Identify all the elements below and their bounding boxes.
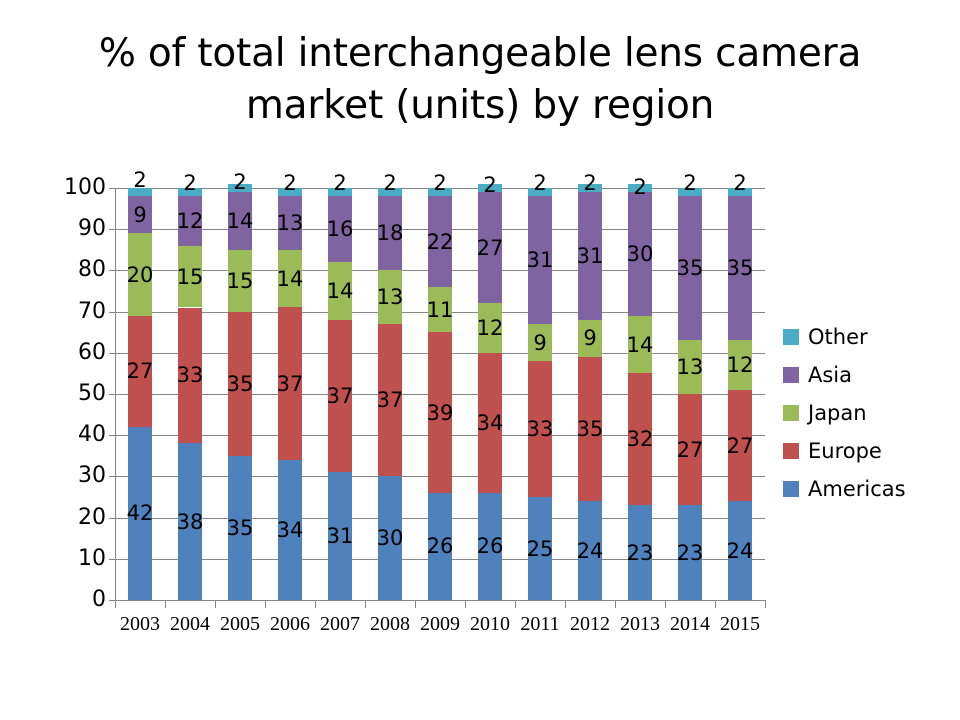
bar-group[interactable]: 303713182 bbox=[378, 188, 402, 600]
legend-swatch-icon bbox=[783, 329, 799, 345]
legend-swatch-icon bbox=[783, 367, 799, 383]
legend-label: Europe bbox=[808, 441, 882, 462]
bar-segment-other[interactable] bbox=[728, 188, 752, 196]
bar-group[interactable]: 25339312 bbox=[528, 188, 552, 600]
chart-title: % of total interchangeable lens camera m… bbox=[40, 28, 920, 132]
legend-swatch-icon bbox=[783, 481, 799, 497]
y-axis-tick-label: 20 bbox=[48, 507, 106, 529]
bar-group[interactable]: 343714132 bbox=[278, 188, 302, 600]
bar-segment-asia[interactable] bbox=[528, 196, 552, 324]
bar-segment-europe[interactable] bbox=[478, 353, 502, 493]
bar-segment-asia[interactable] bbox=[228, 192, 252, 250]
x-axis-tick-mark bbox=[315, 601, 316, 608]
x-axis-tick-mark bbox=[165, 601, 166, 608]
bar-segment-other[interactable] bbox=[278, 188, 302, 196]
x-axis-tick-label: 2015 bbox=[710, 613, 770, 635]
bar-segment-europe[interactable] bbox=[578, 357, 602, 501]
bar-segment-other[interactable] bbox=[228, 184, 252, 192]
bar-segment-japan[interactable] bbox=[728, 340, 752, 389]
legend-label: Asia bbox=[808, 365, 852, 386]
y-axis-tick-mark bbox=[109, 229, 115, 230]
bar-segment-japan[interactable] bbox=[178, 246, 202, 308]
bar-segment-asia[interactable] bbox=[178, 196, 202, 245]
y-axis-tick-label: 70 bbox=[48, 301, 106, 323]
bar-segment-other[interactable] bbox=[578, 184, 602, 192]
legend-label: Japan bbox=[808, 403, 867, 424]
bar-segment-other[interactable] bbox=[678, 188, 702, 196]
legend-item-japan[interactable]: Japan bbox=[783, 394, 906, 432]
bar-segment-europe[interactable] bbox=[228, 312, 252, 456]
y-axis-tick-label: 60 bbox=[48, 342, 106, 364]
x-axis-tick-mark bbox=[215, 601, 216, 608]
chart-page: % of total interchangeable lens camera m… bbox=[0, 0, 960, 720]
bar-segment-americas[interactable] bbox=[428, 493, 452, 600]
legend-item-americas[interactable]: Americas bbox=[783, 470, 906, 508]
bar-segment-japan[interactable] bbox=[678, 340, 702, 394]
bar-segment-europe[interactable] bbox=[328, 320, 352, 472]
legend-swatch-icon bbox=[783, 405, 799, 421]
bar-segment-americas[interactable] bbox=[578, 501, 602, 600]
y-axis-tick-mark bbox=[109, 518, 115, 519]
bar-segment-europe[interactable] bbox=[428, 332, 452, 493]
bar-segment-japan[interactable] bbox=[228, 250, 252, 312]
bar-segment-americas[interactable] bbox=[478, 493, 502, 600]
bar-segment-europe[interactable] bbox=[128, 316, 152, 427]
x-axis-tick-mark bbox=[465, 601, 466, 608]
y-axis-tick-mark bbox=[109, 270, 115, 271]
bar-segment-asia[interactable] bbox=[378, 196, 402, 270]
y-axis-tick-label: 100 bbox=[48, 177, 106, 199]
y-axis-tick-label: 10 bbox=[48, 548, 106, 570]
x-axis-tick-mark bbox=[365, 601, 366, 608]
bar-segment-asia[interactable] bbox=[728, 196, 752, 340]
bar-segment-japan[interactable] bbox=[578, 320, 602, 357]
y-axis-tick-label: 50 bbox=[48, 383, 106, 405]
x-axis-tick-mark bbox=[515, 601, 516, 608]
y-axis-tick-mark bbox=[109, 435, 115, 436]
bar-segment-other[interactable] bbox=[128, 188, 152, 196]
bar-segment-other[interactable] bbox=[178, 188, 202, 196]
bar-segment-americas[interactable] bbox=[178, 443, 202, 600]
legend-label: Americas bbox=[808, 479, 906, 500]
bar-segment-americas[interactable] bbox=[678, 505, 702, 600]
bar-segment-asia[interactable] bbox=[628, 192, 652, 316]
bar-group[interactable]: 42272092 bbox=[128, 188, 152, 600]
bar-group[interactable]: 353515142 bbox=[228, 188, 252, 600]
bar-segment-asia[interactable] bbox=[578, 192, 602, 320]
y-axis-tick-mark bbox=[109, 188, 115, 189]
y-axis-tick-mark bbox=[109, 312, 115, 313]
bar-segment-japan[interactable] bbox=[128, 233, 152, 315]
bar-group[interactable]: 263412272 bbox=[478, 188, 502, 600]
bar-segment-japan[interactable] bbox=[478, 303, 502, 352]
bar-segment-other[interactable] bbox=[478, 184, 502, 192]
plot-area: 4227209238331512235351514234371413231371… bbox=[115, 188, 765, 600]
bar-segment-europe[interactable] bbox=[728, 390, 752, 501]
y-axis-tick-label: 90 bbox=[48, 218, 106, 240]
bar-segment-americas[interactable] bbox=[228, 456, 252, 600]
legend-label: Other bbox=[808, 327, 868, 348]
y-axis-tick-label: 0 bbox=[48, 589, 106, 611]
bar-segment-europe[interactable] bbox=[278, 307, 302, 459]
bar-group[interactable]: 232713352 bbox=[678, 188, 702, 600]
y-axis-tick-mark bbox=[109, 476, 115, 477]
bar-segment-asia[interactable] bbox=[678, 196, 702, 340]
bar-segment-japan[interactable] bbox=[628, 316, 652, 374]
bar-segment-japan[interactable] bbox=[428, 287, 452, 332]
bar-segment-other[interactable] bbox=[428, 188, 452, 196]
x-axis-tick-mark bbox=[565, 601, 566, 608]
legend-item-europe[interactable]: Europe bbox=[783, 432, 906, 470]
x-axis-tick-mark bbox=[415, 601, 416, 608]
bar-segment-other[interactable] bbox=[328, 188, 352, 196]
bar-segment-other[interactable] bbox=[628, 184, 652, 192]
bar-segment-asia[interactable] bbox=[328, 196, 352, 262]
bar-segment-americas[interactable] bbox=[378, 476, 402, 600]
bar-segment-japan[interactable] bbox=[378, 270, 402, 324]
bar-segment-americas[interactable] bbox=[528, 497, 552, 600]
bar-segment-europe[interactable] bbox=[678, 394, 702, 505]
x-axis-tick-mark bbox=[615, 601, 616, 608]
x-axis-line bbox=[115, 600, 766, 601]
bar-segment-europe[interactable] bbox=[178, 308, 202, 444]
x-axis-tick-mark bbox=[115, 601, 116, 608]
x-axis-tick-mark bbox=[715, 601, 716, 608]
bar-segment-other[interactable] bbox=[528, 188, 552, 196]
bar-segment-europe[interactable] bbox=[628, 373, 652, 505]
x-axis-tick-mark bbox=[665, 601, 666, 608]
bar-segment-europe[interactable] bbox=[378, 324, 402, 476]
bar-group[interactable]: 242712352 bbox=[728, 188, 752, 600]
y-axis-tick-mark bbox=[109, 394, 115, 395]
bar-segment-europe[interactable] bbox=[528, 361, 552, 497]
bar-segment-americas[interactable] bbox=[328, 472, 352, 600]
bar-group[interactable]: 233214302 bbox=[628, 188, 652, 600]
bar-segment-asia[interactable] bbox=[278, 196, 302, 250]
x-axis-tick-mark bbox=[265, 601, 266, 608]
bar-segment-asia[interactable] bbox=[428, 196, 452, 287]
bar-segment-japan[interactable] bbox=[528, 324, 552, 361]
y-axis-tick-mark bbox=[109, 559, 115, 560]
bar-segment-asia[interactable] bbox=[478, 192, 502, 303]
chart-legend: OtherAsiaJapanEuropeAmericas bbox=[783, 318, 906, 508]
y-axis-tick-label: 40 bbox=[48, 424, 106, 446]
bar-segment-asia[interactable] bbox=[128, 196, 152, 233]
legend-swatch-icon bbox=[783, 443, 799, 459]
bar-segment-americas[interactable] bbox=[278, 460, 302, 600]
bar-group[interactable]: 313714162 bbox=[328, 188, 352, 600]
bar-group[interactable]: 263911222 bbox=[428, 188, 452, 600]
bar-group[interactable]: 383315122 bbox=[178, 188, 202, 600]
bar-segment-americas[interactable] bbox=[728, 501, 752, 600]
legend-item-other[interactable]: Other bbox=[783, 318, 906, 356]
bar-segment-americas[interactable] bbox=[128, 427, 152, 600]
y-axis-tick-label: 80 bbox=[48, 259, 106, 281]
bar-segment-japan[interactable] bbox=[278, 250, 302, 308]
legend-item-asia[interactable]: Asia bbox=[783, 356, 906, 394]
y-axis-tick-label: 30 bbox=[48, 465, 106, 487]
bar-group[interactable]: 24359312 bbox=[578, 188, 602, 600]
bar-segment-other[interactable] bbox=[378, 188, 402, 196]
bar-segment-americas[interactable] bbox=[628, 505, 652, 600]
bar-segment-japan[interactable] bbox=[328, 262, 352, 320]
x-axis-tick-mark bbox=[765, 601, 766, 608]
y-axis-tick-labels: 1009080706050403020100 bbox=[40, 0, 106, 720]
y-axis-tick-mark bbox=[109, 353, 115, 354]
